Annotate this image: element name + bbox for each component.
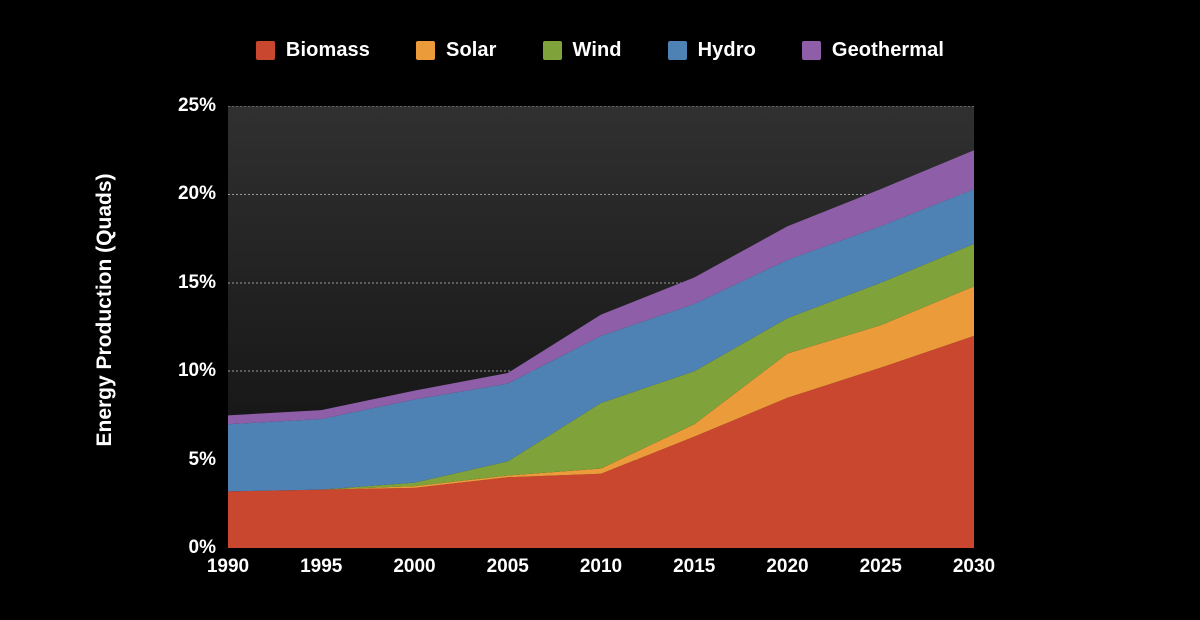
legend-item-label: Solar	[446, 40, 497, 60]
legend-item-geothermal[interactable]: Geothermal	[802, 40, 944, 60]
legend-swatch-icon	[668, 41, 687, 60]
y-tick-label: 5%	[189, 449, 216, 471]
chart-root: BiomassSolarWindHydroGeothermal Energy P…	[0, 0, 1200, 620]
x-tick-label: 2010	[580, 556, 622, 578]
legend-swatch-icon	[543, 41, 562, 60]
stacked-area-svg	[228, 106, 974, 548]
legend-item-biomass[interactable]: Biomass	[256, 40, 370, 60]
y-tick-label: 0%	[189, 537, 216, 559]
y-tick-label: 10%	[178, 360, 216, 382]
y-axis-tick-labels: 0%5%10%15%20%25%	[150, 0, 216, 620]
legend-item-label: Geothermal	[832, 40, 944, 60]
legend-item-wind[interactable]: Wind	[543, 40, 622, 60]
x-tick-label: 2015	[673, 556, 715, 578]
y-axis-title: Energy Production (Quads)	[85, 0, 125, 620]
x-tick-label: 2005	[487, 556, 529, 578]
chart-legend: BiomassSolarWindHydroGeothermal	[0, 40, 1200, 60]
x-tick-label: 2000	[393, 556, 435, 578]
legend-swatch-icon	[256, 41, 275, 60]
legend-item-label: Hydro	[698, 40, 756, 60]
legend-item-label: Wind	[573, 40, 622, 60]
plot-area	[228, 106, 974, 548]
y-tick-label: 15%	[178, 272, 216, 294]
x-tick-label: 1995	[300, 556, 342, 578]
legend-item-solar[interactable]: Solar	[416, 40, 497, 60]
legend-item-hydro[interactable]: Hydro	[668, 40, 756, 60]
y-tick-label: 25%	[178, 95, 216, 117]
legend-swatch-icon	[416, 41, 435, 60]
x-tick-label: 2020	[766, 556, 808, 578]
legend-swatch-icon	[802, 41, 821, 60]
legend-item-label: Biomass	[286, 40, 370, 60]
x-tick-label: 1990	[207, 556, 249, 578]
x-tick-label: 2025	[860, 556, 902, 578]
x-tick-label: 2030	[953, 556, 995, 578]
y-tick-label: 20%	[178, 183, 216, 205]
